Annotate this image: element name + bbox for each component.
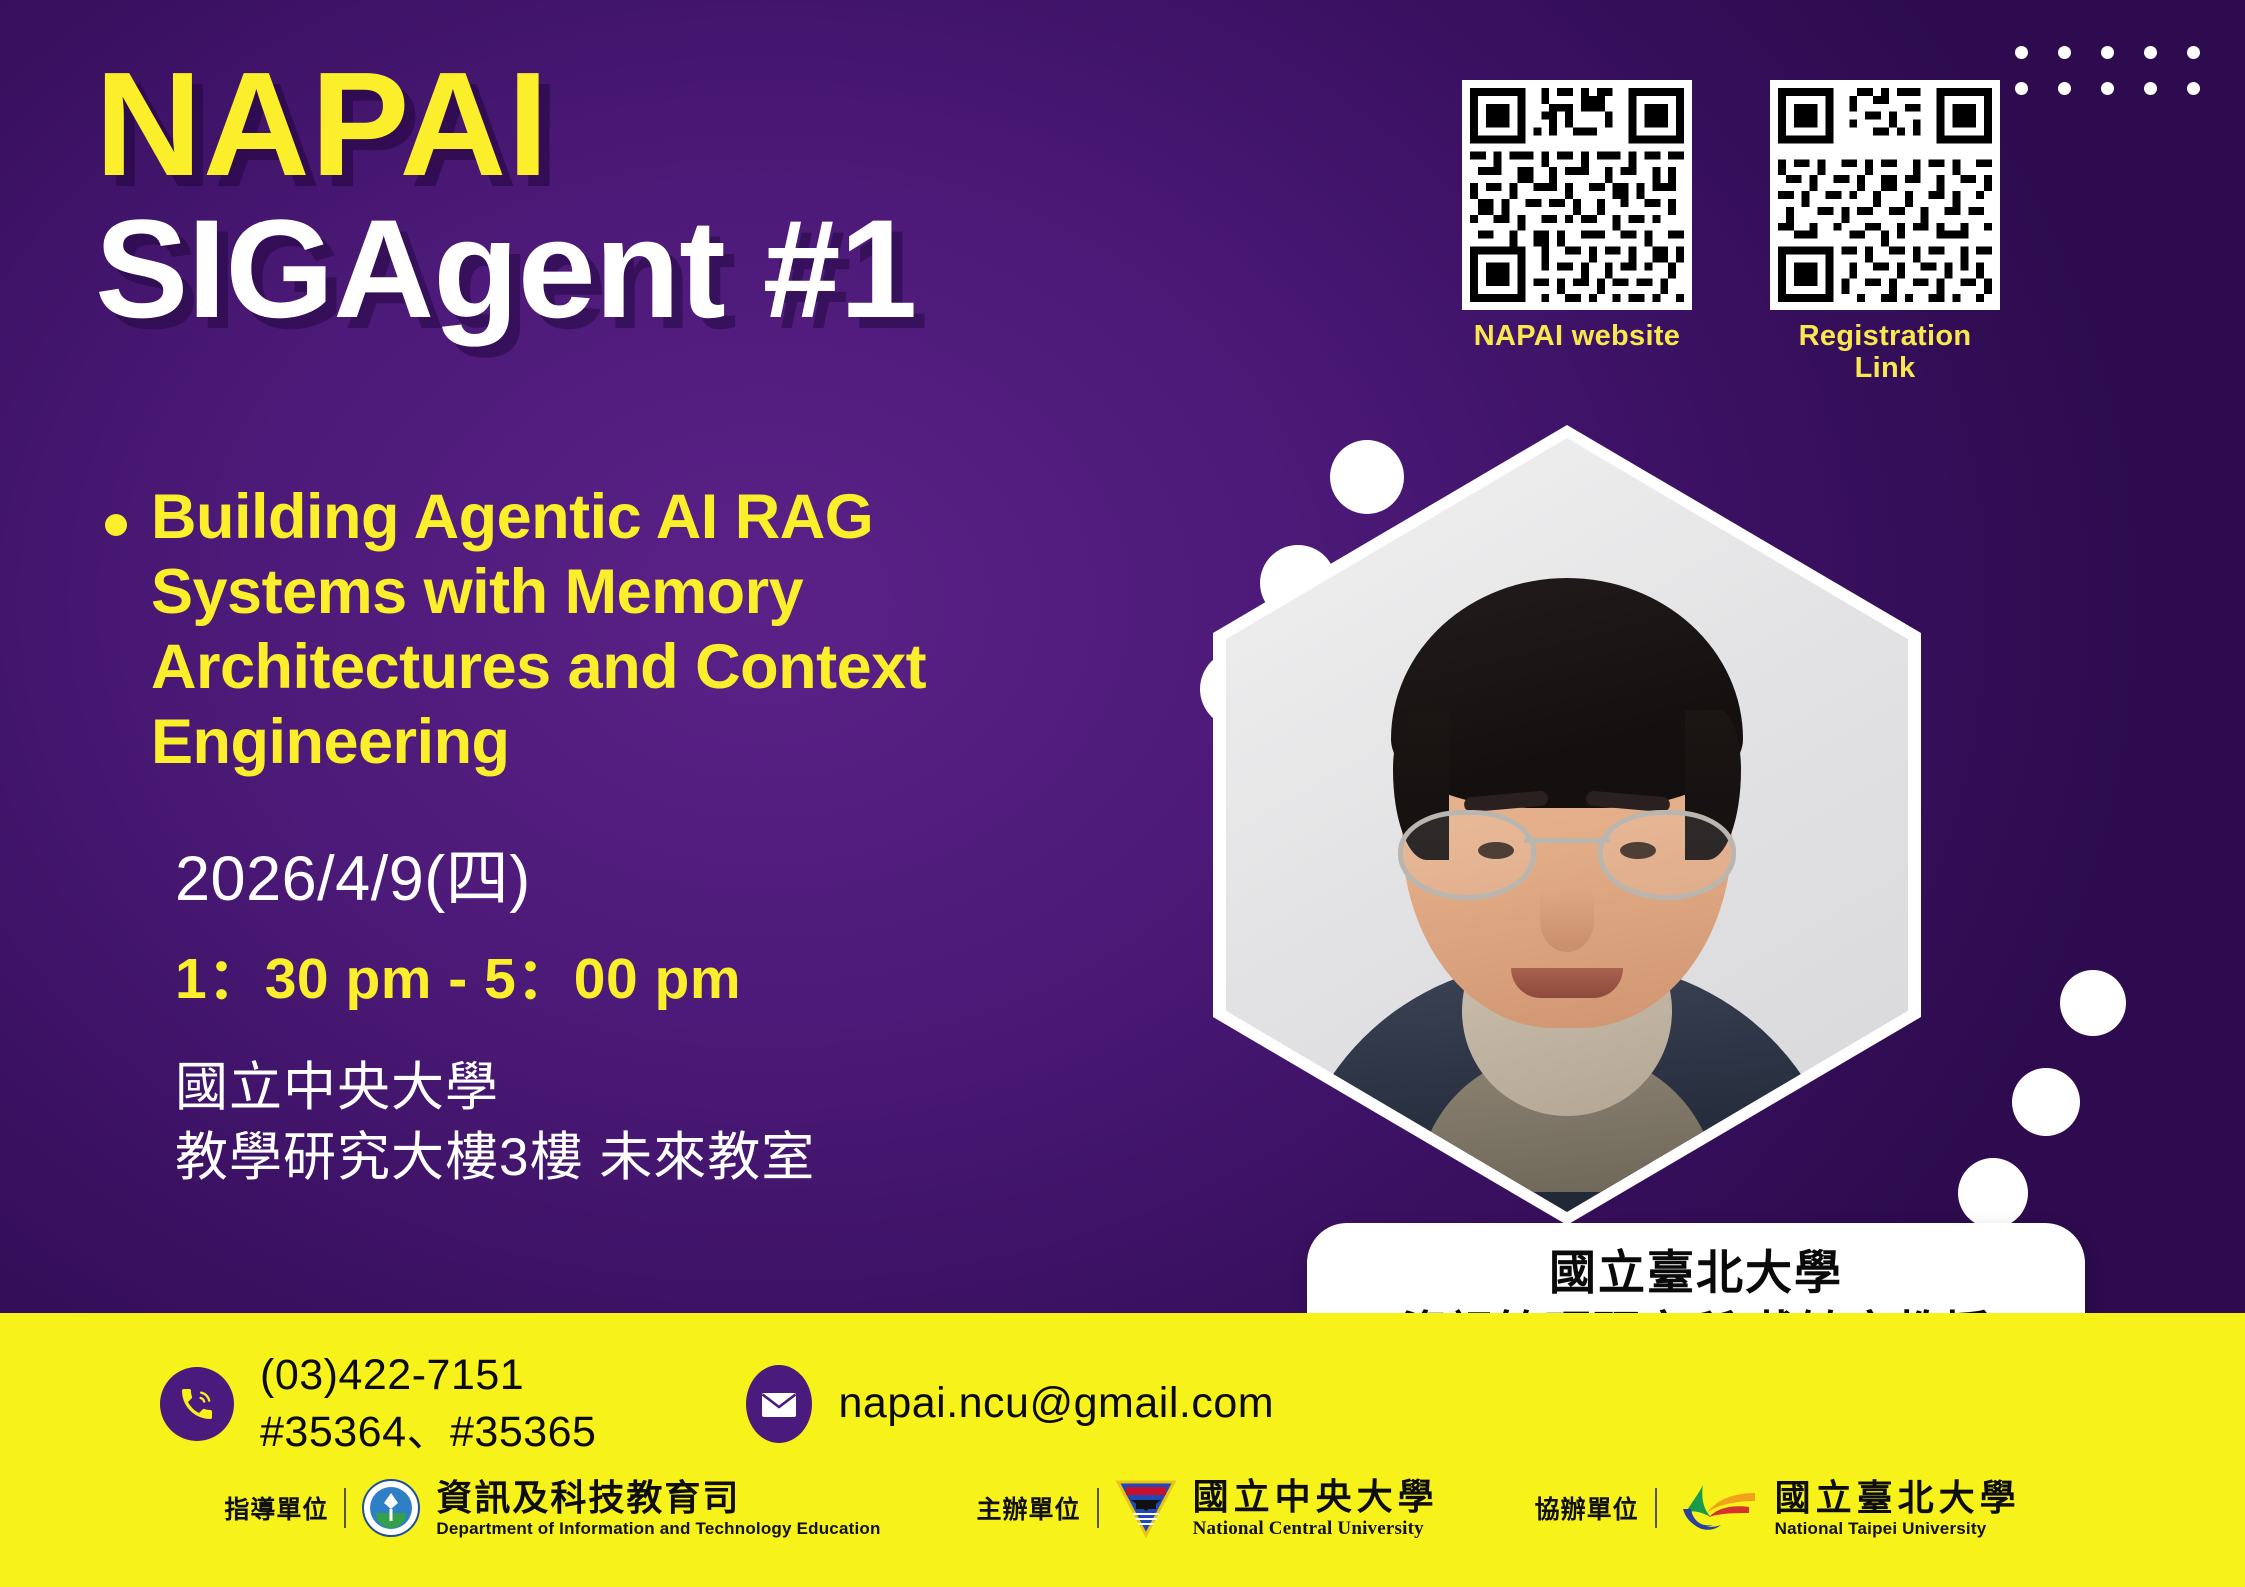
footer-names-guidance: 資訊及科技教育司 Department of Information and T… [436,1479,880,1538]
dot [2058,82,2071,95]
event-time: 1：30 pm - 5：00 pm [175,948,1175,1011]
circle-decoration [1958,1158,2028,1228]
footer-cn-guidance: 資訊及科技教育司 [436,1479,880,1517]
footer-cn-host: 國立中央大學 [1193,1478,1439,1516]
lens-left [1398,810,1536,900]
envelope-icon [746,1365,812,1443]
dot-grid-decoration [2000,34,2215,106]
footer-en-guidance: Department of Information and Technology… [436,1520,880,1538]
phone-number: (03)422-7151 #35364、#35365 [260,1347,596,1461]
circle-decoration [2012,1068,2080,1136]
event-details: 2026/4/9(四) 1：30 pm - 5：00 pm 國立中央大學 教學研… [175,845,1175,1194]
footer-role-coorganizer: 協辦單位 [1535,1490,1639,1526]
ntpu-logo-glyph [1673,1479,1759,1537]
qr-caption-website: NAPAI website [1462,320,1692,352]
dot [2144,46,2157,59]
hexagon-photo [1226,438,1908,1212]
moe-seal-glyph [362,1479,420,1537]
talk-title: Building Agentic AI RAG Systems with Mem… [151,480,1115,780]
portrait-hair [1391,578,1743,808]
venue-line-1: 國立中央大學 [175,1053,1175,1123]
dot [2101,82,2114,95]
glasses-bridge [1524,838,1610,843]
footer-group-guidance: 指導單位 資訊及科技教育司 Department of Information … [224,1479,880,1538]
dot [2144,82,2157,95]
moe-seal-icon [362,1479,420,1537]
page-subtitle: SIGAgent #1 [95,200,1425,337]
page-title: NAPAI [95,55,1425,196]
footer-role-guidance: 指導單位 [224,1490,328,1526]
dot [2187,82,2200,95]
contact-bar: (03)422-7151 #35364、#35365 napai.ncu@gma… [0,1313,2245,1587]
ncu-logo-icon [1115,1478,1177,1538]
registration-link-qr-icon[interactable] [1770,80,2000,310]
ntpu-logo-icon [1673,1479,1759,1537]
envelope-glyph [759,1388,799,1420]
dot [2187,46,2200,59]
dot [2101,46,2114,59]
speaker-portrait [1213,425,1921,1225]
footer-group-coorganizer: 協辦單位 國立臺北大學 National Taipei University [1535,1479,2021,1538]
divider [1655,1488,1657,1528]
footer-cn-coorganizer: 國立臺北大學 [1775,1479,2021,1517]
footer-en-host: National Central University [1193,1519,1439,1539]
footer-group-host: 主辦單位 國立中央大學 National Central University [977,1478,1439,1539]
phone-glyph [177,1384,217,1424]
bullet-icon [105,514,127,536]
poster-headline: NAPAI SIGAgent #1 [95,55,1425,337]
speaker-affiliation: 國立臺北大學 [1327,1245,2065,1300]
footer-names-host: 國立中央大學 National Central University [1193,1478,1439,1539]
divider [1097,1488,1099,1528]
event-date: 2026/4/9(四) [175,845,1175,914]
footer-en-coorganizer: National Taipei University [1775,1520,2021,1538]
phone-icon [160,1367,234,1441]
talk-title-block: Building Agentic AI RAG Systems with Mem… [105,480,1115,780]
footer-role-host: 主辦單位 [977,1490,1081,1526]
footer-names-coorganizer: 國立臺北大學 National Taipei University [1775,1479,2021,1538]
ncu-logo-glyph [1115,1478,1177,1538]
lens-right [1598,810,1736,900]
event-poster: NAPAI SIGAgent #1 [0,0,2245,1587]
dot [2058,46,2071,59]
qr-block-website[interactable]: NAPAI website [1462,80,1692,385]
napai-website-qr-icon[interactable] [1462,80,1692,310]
circle-decoration [2060,970,2126,1036]
qr-code-area: NAPAI website [1462,80,2000,385]
event-venue: 國立中央大學 教學研究大樓3樓 未來教室 [175,1053,1175,1194]
portrait-mouth [1511,968,1623,998]
venue-line-2: 教學研究大樓3樓 未來教室 [175,1123,1175,1193]
contact-row: (03)422-7151 #35364、#35365 napai.ncu@gma… [160,1347,1274,1461]
glasses-icon [1392,810,1742,896]
qr-block-registration[interactable]: Registration Link [1770,80,2000,385]
divider [344,1488,346,1528]
dot [2015,46,2028,59]
portrait-nose [1540,890,1594,952]
footer-logos: 指導單位 資訊及科技教育司 Department of Information … [0,1478,2245,1539]
contact-email: napai.ncu@gmail.com [746,1365,1274,1443]
qr-caption-registration: Registration Link [1770,320,2000,385]
dot [2015,82,2028,95]
contact-phone: (03)422-7151 #35364、#35365 [160,1347,596,1461]
email-address: napai.ncu@gmail.com [838,1375,1274,1432]
